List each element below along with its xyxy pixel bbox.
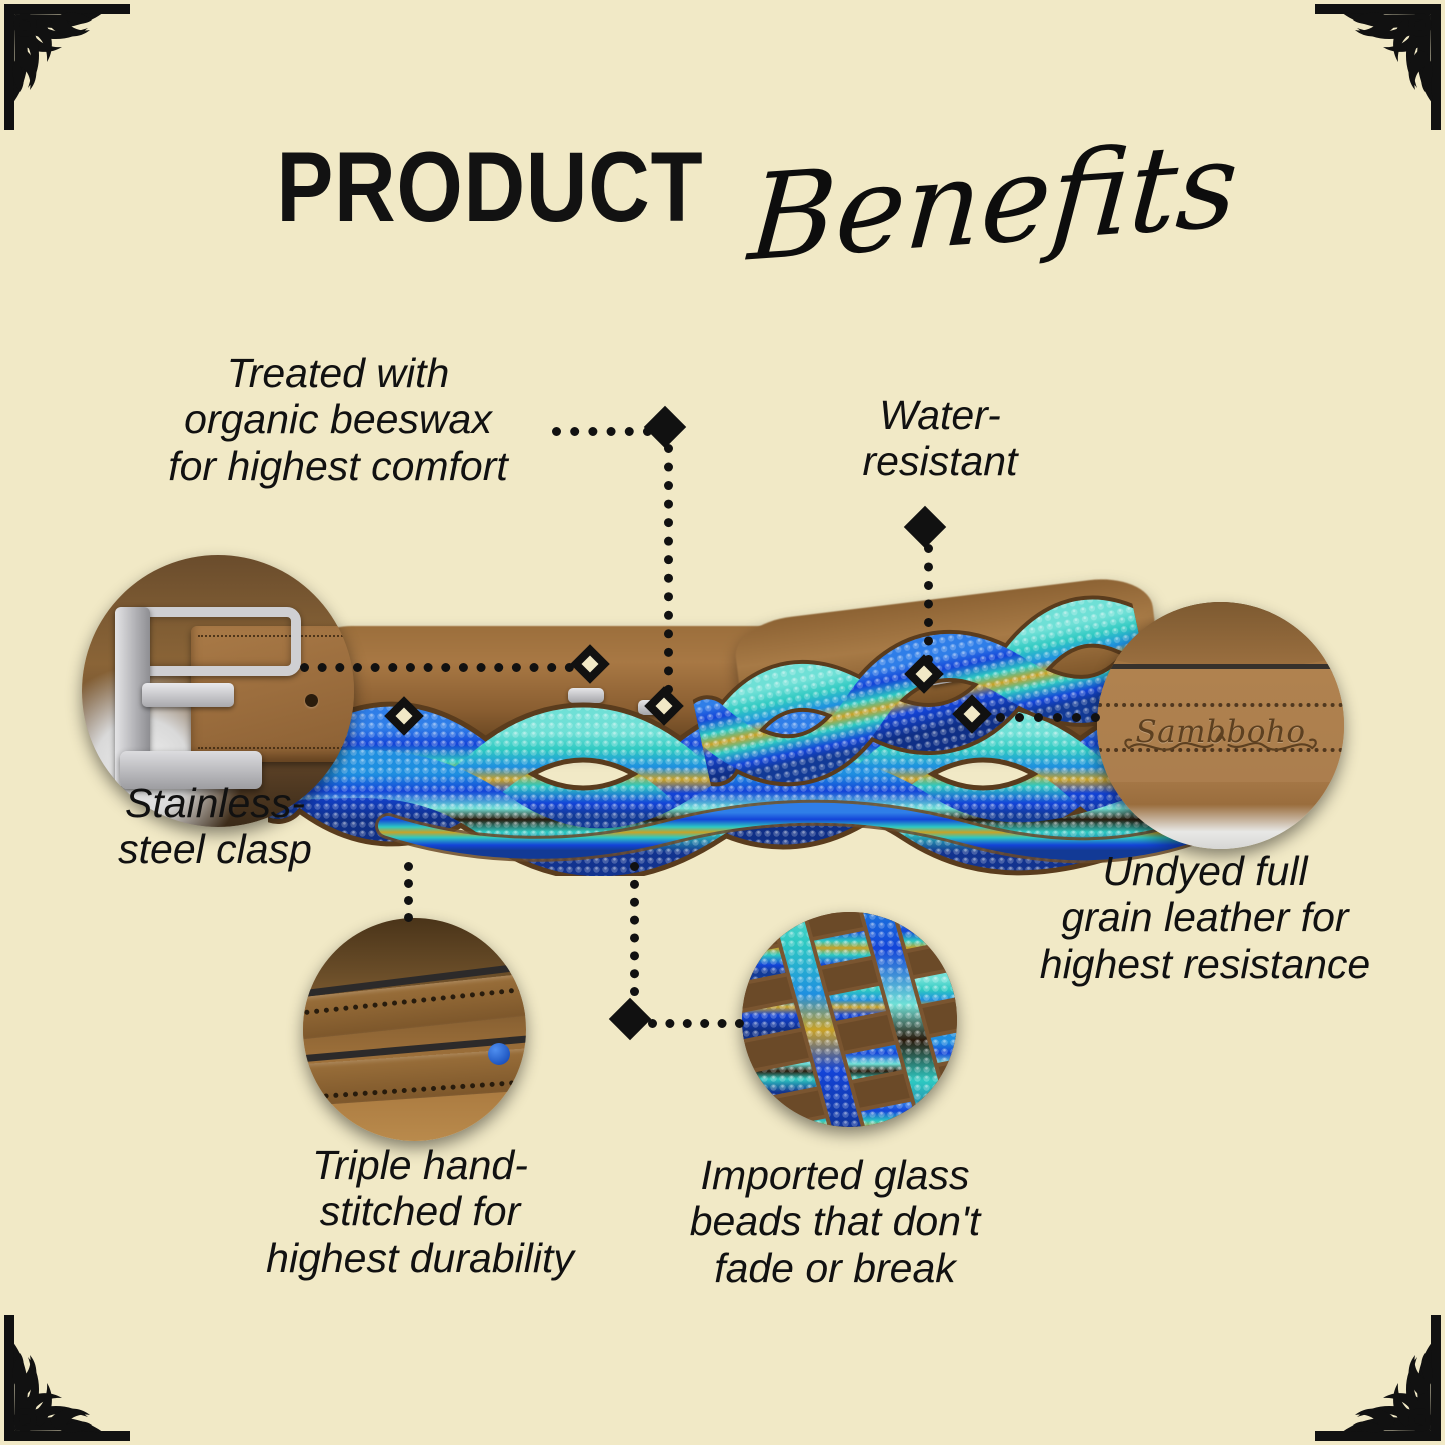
connector-water-anchor-diamond bbox=[904, 506, 946, 548]
detail-circle-imported-glass-beads bbox=[742, 912, 957, 1127]
brand-flourish-ornament bbox=[1121, 732, 1320, 758]
connector-beeswax-anchor-diamond bbox=[644, 406, 686, 448]
detail-circle-triple-hand-stitched bbox=[303, 918, 526, 1141]
ornament-corner-top-right bbox=[1310, 0, 1445, 135]
buckle-pin bbox=[142, 683, 234, 707]
infographic-canvas: PRODUCTBenefits bbox=[0, 0, 1445, 1445]
buckle-frame bbox=[128, 607, 300, 676]
connector-beads-horizontal bbox=[648, 1019, 744, 1028]
benefit-label-undyed-full-grain-leather: Undyed full grain leather for highest re… bbox=[1010, 848, 1400, 987]
detail-circle-undyed-full-grain-leather: Sambboho bbox=[1097, 602, 1344, 849]
benefit-label-imported-glass-beads: Imported glass beads that don't fade or … bbox=[655, 1152, 1015, 1291]
benefit-label-water-resistant: Water- resistant bbox=[790, 392, 1090, 485]
brand-stamp-photo: Sambboho bbox=[1097, 602, 1344, 849]
ornament-corner-bottom-left bbox=[0, 1310, 135, 1445]
connector-clasp-horizontal bbox=[300, 663, 574, 672]
connector-beads-vertical bbox=[630, 862, 639, 1014]
stitching-photo bbox=[303, 918, 526, 1141]
title-script-word: Benefits bbox=[745, 114, 1243, 287]
beadwork-photo bbox=[742, 912, 957, 1127]
brand-stitch-row-top bbox=[1097, 703, 1344, 707]
ornament-corner-top-left bbox=[0, 0, 135, 135]
title-bold-word: PRODUCT bbox=[276, 130, 703, 244]
connector-beads-elbow-diamond bbox=[609, 998, 651, 1040]
connector-beeswax-horizontal bbox=[552, 427, 652, 436]
benefit-label-beeswax: Treated with organic beeswax for highest… bbox=[118, 350, 558, 489]
connector-water-vertical bbox=[924, 544, 933, 664]
leather-panel: Sambboho bbox=[1097, 669, 1344, 783]
strap-hole bbox=[305, 694, 318, 707]
leather-upper-curve bbox=[1097, 602, 1344, 669]
ornament-corner-bottom-right bbox=[1310, 1310, 1445, 1445]
connector-stitch-vertical bbox=[404, 862, 413, 922]
connector-leather-horizontal bbox=[996, 713, 1100, 722]
benefit-label-stainless-steel-clasp: Stainless- steel clasp bbox=[60, 780, 370, 873]
connector-beeswax-vertical bbox=[664, 444, 673, 694]
benefit-label-triple-hand-stitched: Triple hand- stitched for highest durabi… bbox=[225, 1142, 615, 1281]
beadwork-closeup bbox=[742, 912, 957, 1127]
page-title: PRODUCTBenefits bbox=[0, 118, 1445, 256]
